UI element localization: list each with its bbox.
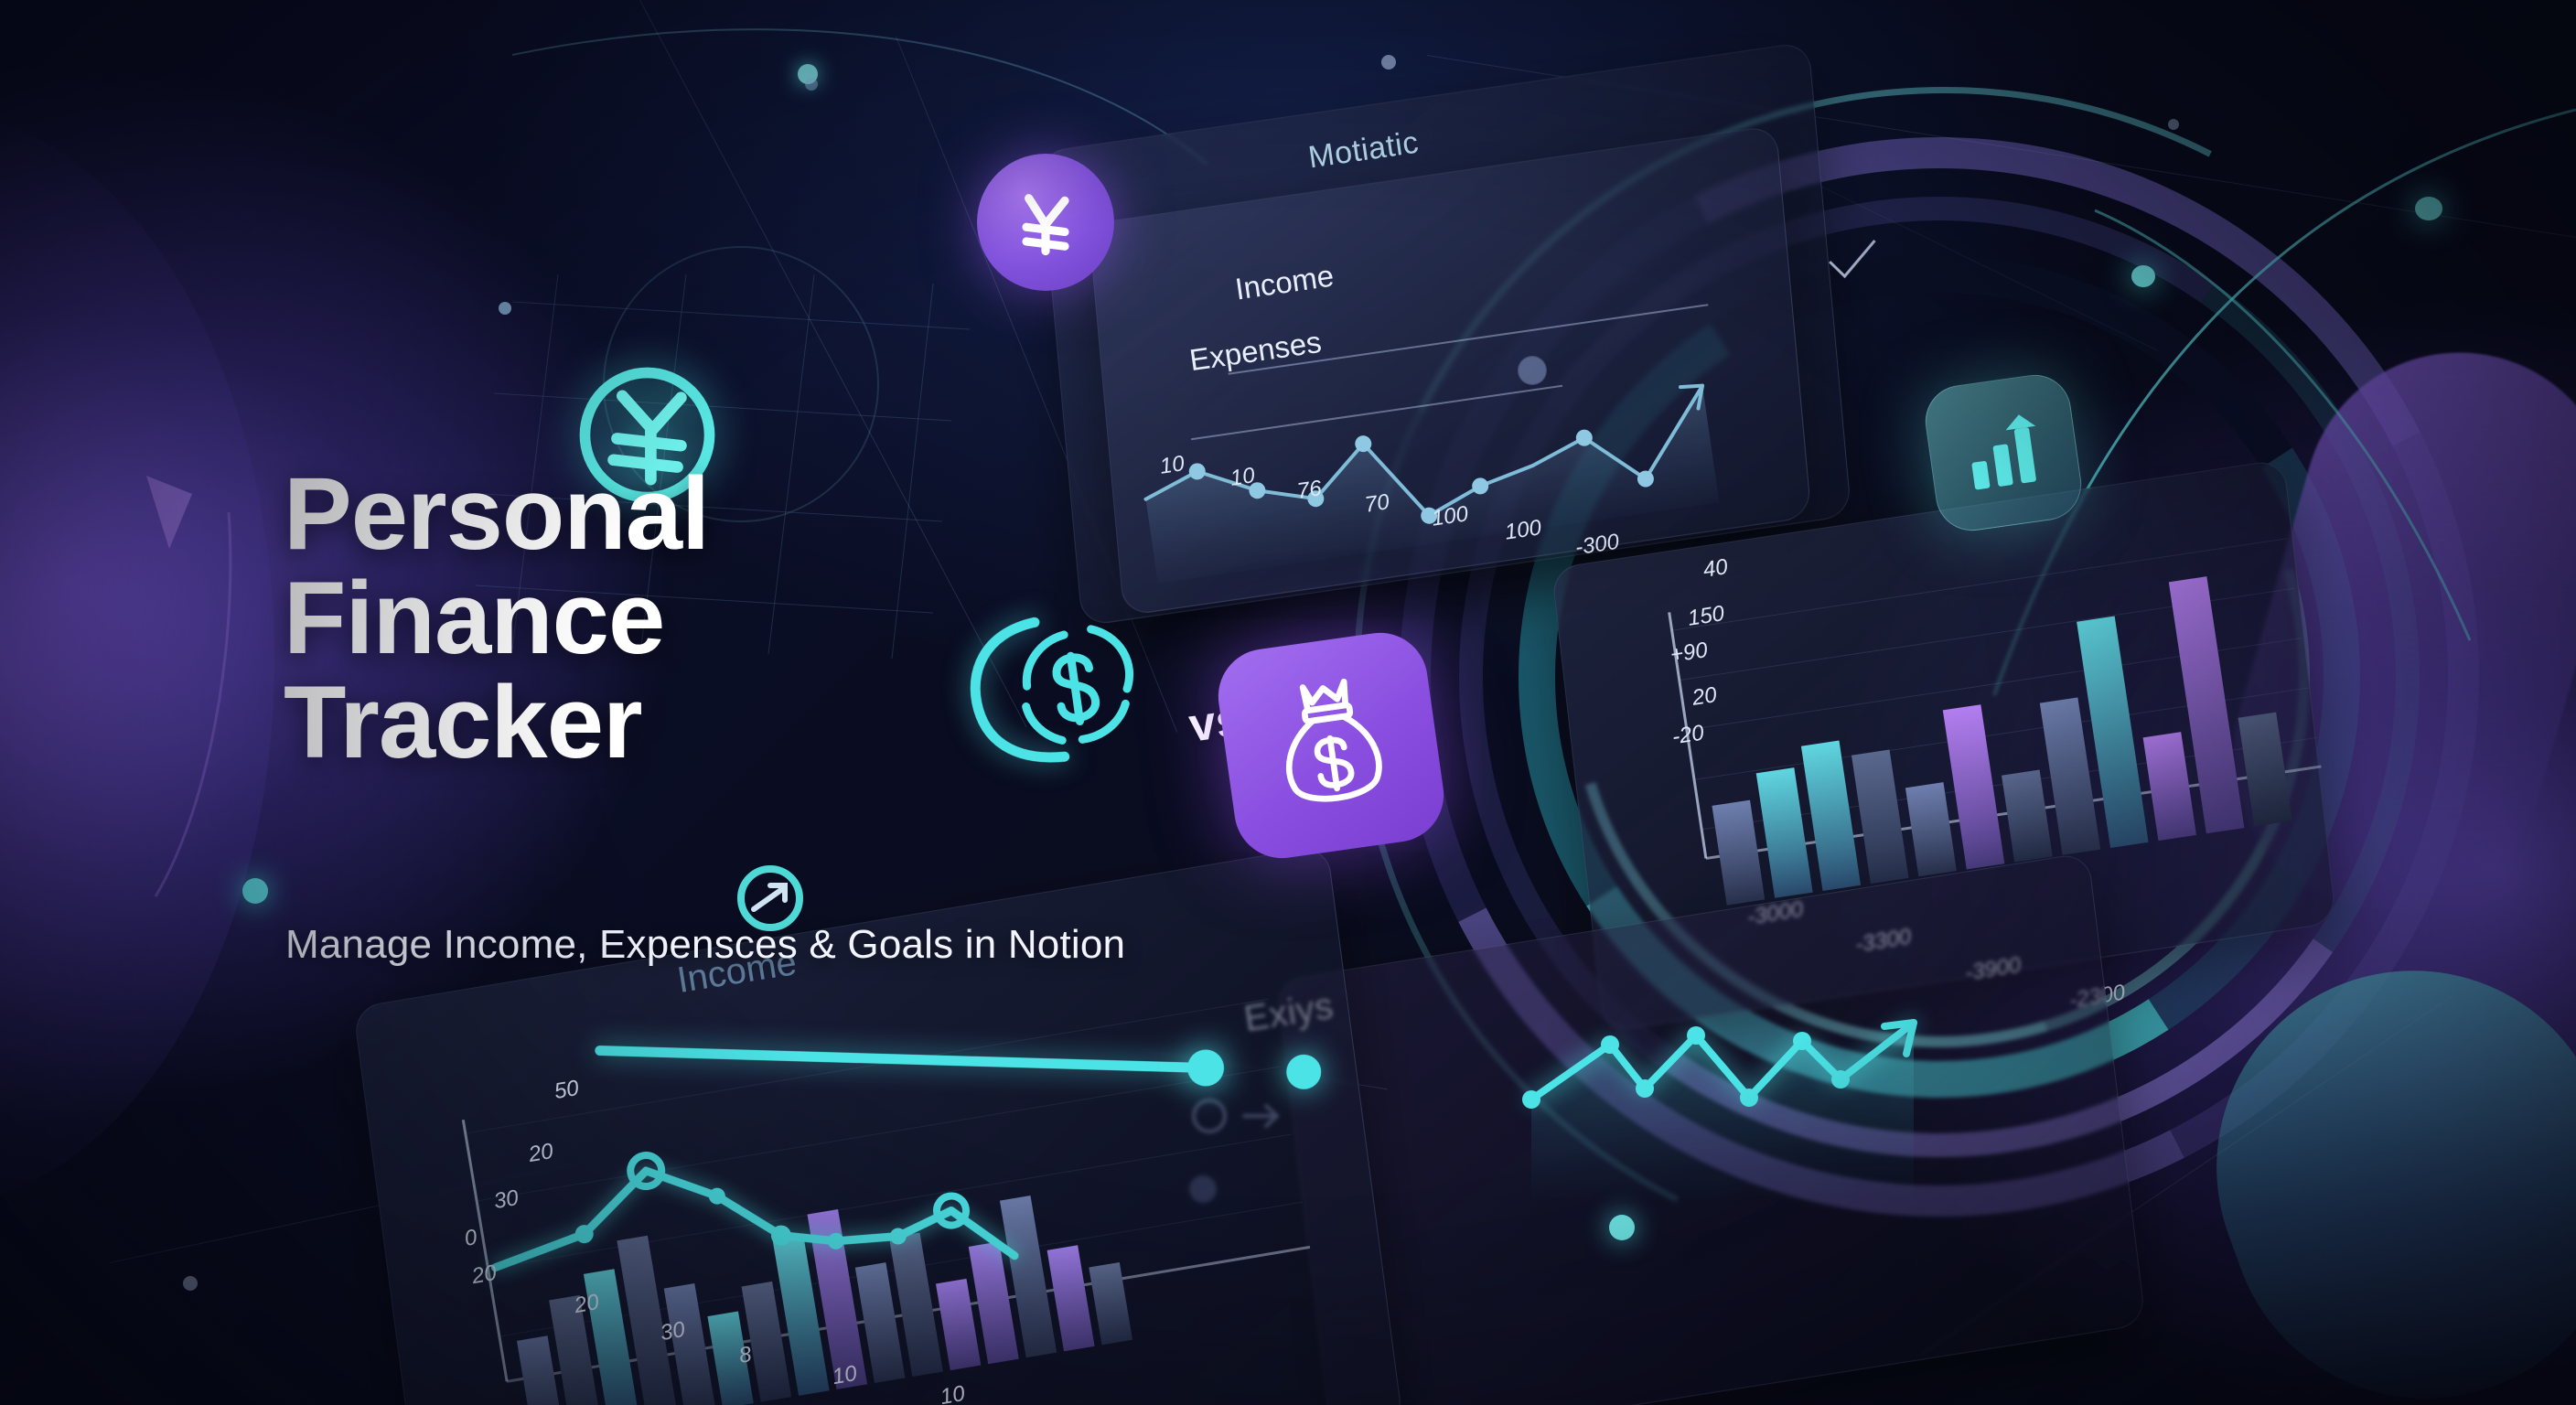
vignette-overlay xyxy=(0,0,2576,1405)
poster-canvas: Motiatic Income Expenses 10 10 76 70 100… xyxy=(0,0,2576,1405)
